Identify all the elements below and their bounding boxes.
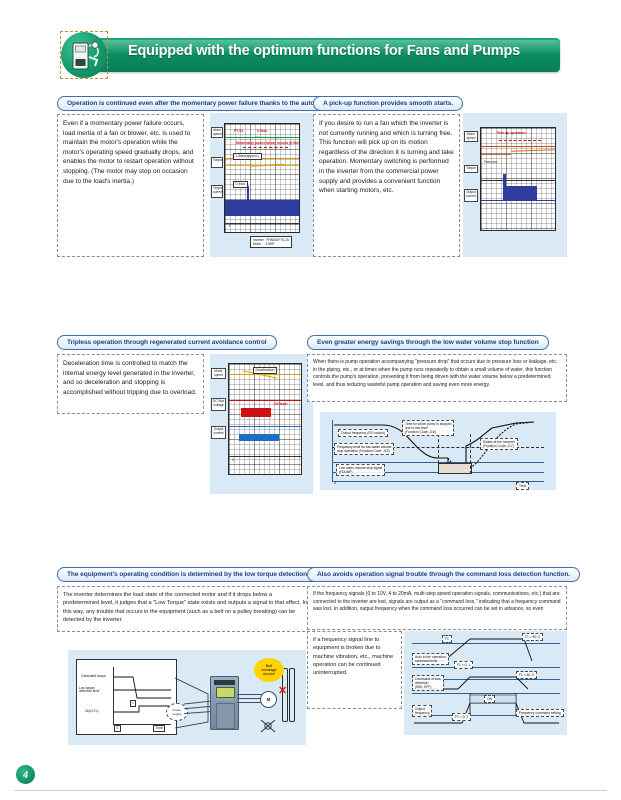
- panel-pick-up-title: A pick-up function provides smooth start…: [313, 96, 463, 111]
- panel-low-torque-detection-title: The equipment's operating condition is d…: [57, 567, 346, 582]
- panel-low-torque-detection-body: The inverter determines the load state o…: [57, 586, 315, 632]
- page-title: Equipped with the optimum functions for …: [128, 43, 520, 59]
- panel-low-water-volume-stop-body: When there is pump operation accompanyin…: [307, 354, 567, 402]
- panel-command-loss-body-bottom: if a frequency signal line to equipment …: [307, 631, 402, 709]
- footer-divider: [14, 790, 607, 791]
- panel-low-torque-figure: Calculated torque Low torquedetection le…: [68, 650, 306, 745]
- panel-command-loss-detection-title: Also avoids operation signal trouble thr…: [307, 567, 580, 582]
- panel-pick-up: A pick-up function provides smooth start…: [313, 92, 569, 111]
- inverter-badge-icon: [60, 32, 108, 78]
- belt-break-marker: ✕: [278, 686, 287, 697]
- panel-pick-up-body: If you desire to run a fan which the inv…: [313, 114, 460, 257]
- panel-auto-restart-body: Even if a momentary power failure occurs…: [57, 114, 204, 257]
- panel-command-loss-figure: F1 F1 = 60. 0 Auto to the operationcomma…: [404, 631, 567, 735]
- panel-auto-restart-figure: FT-V1 0.5sec Momentary power failure occ…: [210, 113, 313, 257]
- command-loss-timing-diagram: F1 F1 = 60. 0 Auto to the operationcomma…: [404, 631, 567, 735]
- panel-low-water-volume-stop-title: Even greater energy savings through the …: [307, 335, 549, 350]
- panel-low-torque-detection: The equipment's operating condition is d…: [57, 563, 315, 582]
- page-number: 4: [16, 765, 35, 784]
- chart-legend: Inverter : FRN002F7S-2UMotor : 3.5HP: [250, 236, 292, 248]
- panel-command-loss-body-top: If the frequency signals (0 to 10V, 4 to…: [307, 586, 567, 630]
- waveform-chart: Pick-up operation Free-run: [480, 127, 556, 231]
- panel-tripless-figure: Deceleration OV level V Motorspeed DC Bu…: [210, 354, 313, 494]
- panel-pick-up-figure: Pick-up operation Free-run Motorspeed To…: [463, 113, 567, 257]
- panel-command-loss-detection: Also avoids operation signal trouble thr…: [307, 563, 567, 582]
- panel-tripless-operation-body: Deceleration time is controlled to match…: [57, 354, 204, 414]
- panel-low-water-volume-figure: Output frequency (FID output) Frequency …: [320, 412, 556, 490]
- waveform-chart: Deceleration OV level V: [228, 363, 302, 475]
- panel-tripless-operation-title: Tripless operation through regenerated c…: [57, 335, 277, 350]
- panel-low-water-volume-stop: Even greater energy savings through the …: [307, 331, 567, 350]
- fan-icon: [258, 716, 278, 736]
- waveform-chart: FT-V1 0.5sec Momentary power failure occ…: [224, 123, 300, 233]
- low-water-line-chart: Output frequency (FID output) Frequency …: [320, 412, 556, 490]
- inverter-device: [210, 676, 239, 730]
- panel-auto-restart: Operation is continued even after the mo…: [57, 92, 313, 111]
- belt-breakage-callout: Beltbreakageoccurs!: [254, 658, 284, 682]
- panel-tripless-operation: Tripless operation through regenerated c…: [57, 331, 313, 350]
- page-header: Equipped with the optimum functions for …: [60, 32, 560, 78]
